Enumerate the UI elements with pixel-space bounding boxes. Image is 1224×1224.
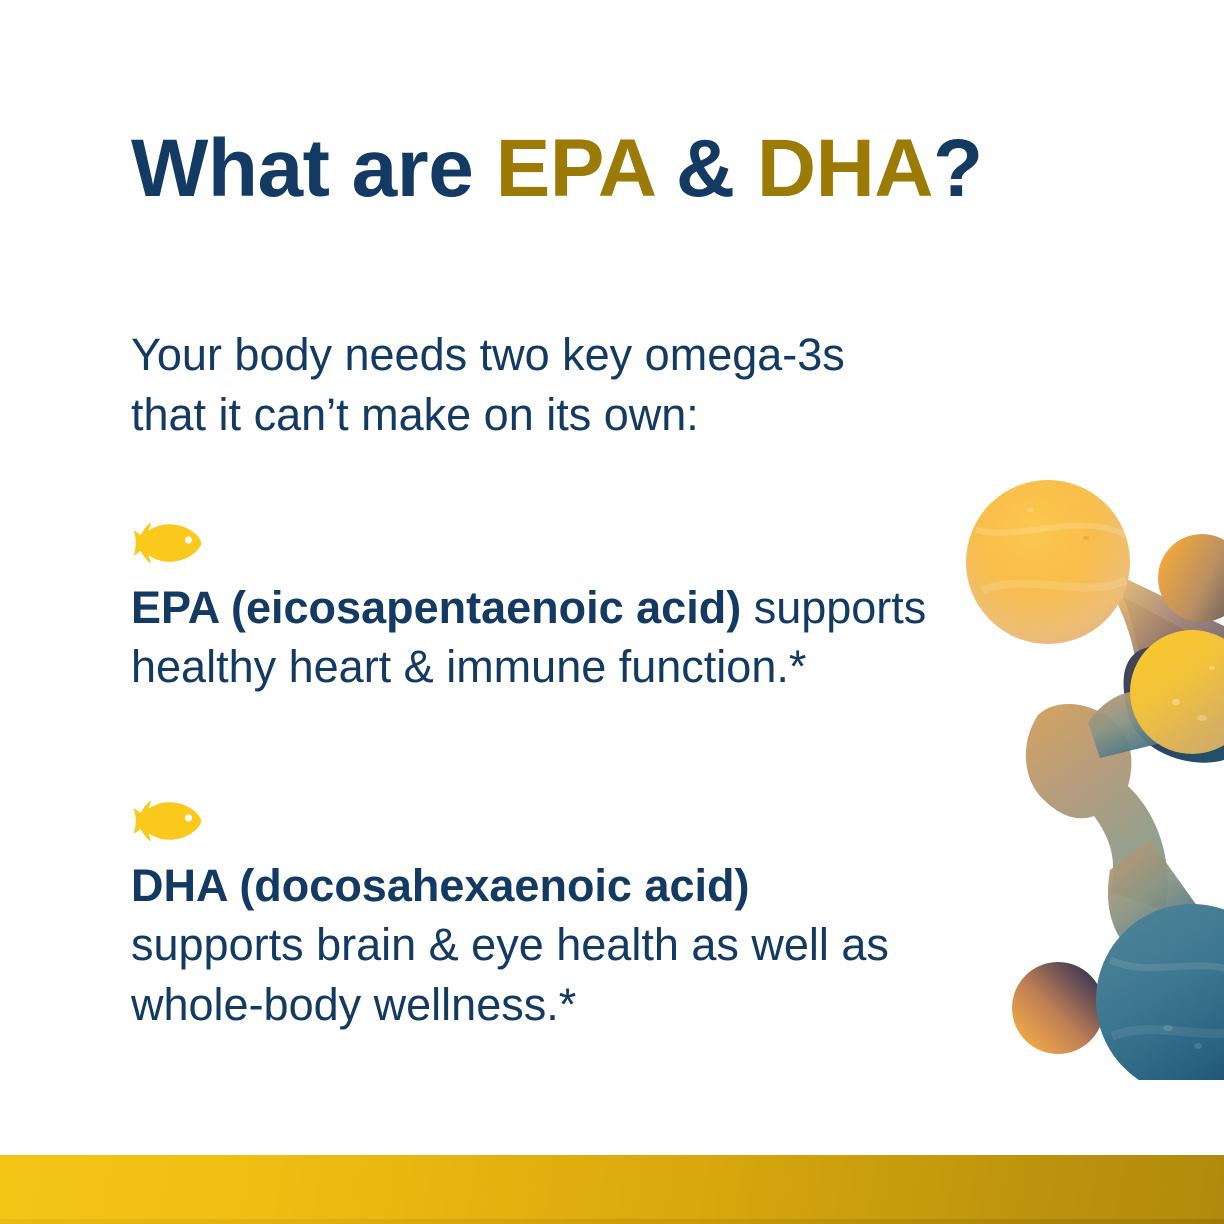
slide-canvas: What are EPA & DHA? Your body needs two … [0, 0, 1224, 1224]
title-part-dha: DHA [757, 123, 933, 214]
benefit-text-epa: EPA (eicosapentaenoic acid) supports hea… [131, 578, 931, 697]
title-part-what-are: What are [131, 123, 496, 214]
benefit-description-dha: supports brain & eye health as well as w… [131, 919, 889, 1029]
benefit-text-dha: DHA (docosahexaenoic acid) supports brai… [131, 856, 931, 1034]
benefit-item-dha: DHA (docosahexaenoic acid) supports brai… [131, 800, 931, 1034]
intro-line-2: that it can’t make on its own: [131, 389, 699, 440]
gold-accent-bar [0, 1155, 1224, 1224]
fish-icon [133, 800, 207, 842]
omega-3-molecule-illustration [960, 440, 1224, 1080]
benefit-item-epa: EPA (eicosapentaenoic acid) supports hea… [131, 522, 931, 697]
page-title: What are EPA & DHA? [131, 128, 983, 210]
intro-line-1: Your body needs two key omega-3s [131, 329, 845, 380]
fish-icon [133, 522, 207, 564]
title-part-ampersand: & [654, 123, 757, 214]
title-part-question-mark: ? [933, 123, 983, 214]
benefit-term-epa: EPA (eicosapentaenoic acid) [131, 582, 741, 633]
intro-paragraph: Your body needs two key omega-3s that it… [131, 325, 1031, 445]
title-part-epa: EPA [496, 123, 654, 214]
benefit-term-dha: DHA (docosahexaenoic acid) [131, 860, 750, 911]
